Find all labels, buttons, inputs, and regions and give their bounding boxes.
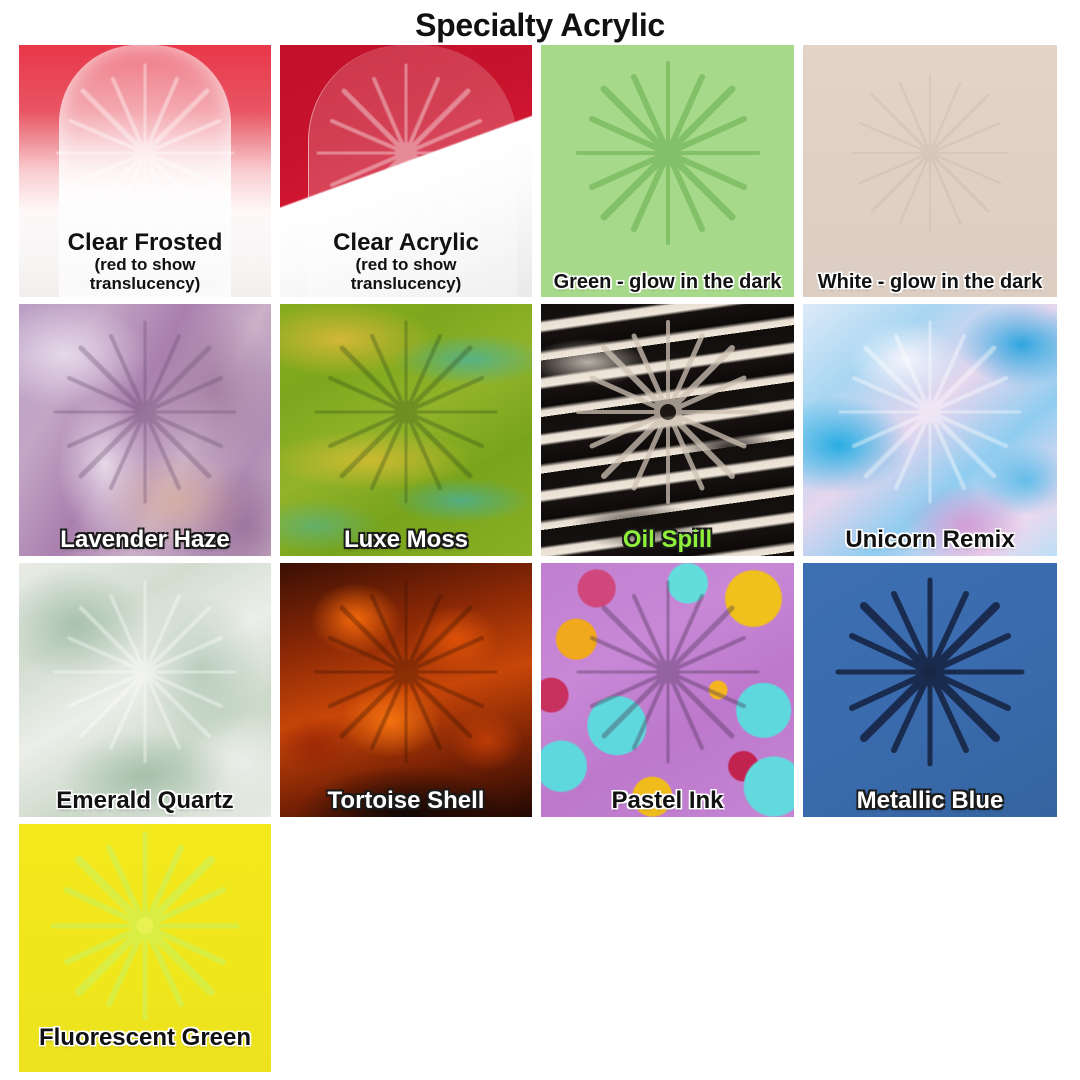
swatch-name: Green - glow in the dark (541, 272, 794, 293)
swatch-unicorn-remix[interactable]: Unicorn Remix (803, 304, 1057, 556)
swatch-lavender-haze[interactable]: Lavender Haze (19, 304, 271, 556)
swatch-label: White - glow in the dark (803, 272, 1057, 297)
swatch-label: Clear Frosted (red to show translucency) (19, 230, 271, 298)
swatch-subtitle-line1: (red to show (280, 255, 532, 274)
starburst-engraving-icon (306, 572, 506, 772)
swatch-label: Clear Acrylic (red to show translucency) (280, 230, 532, 298)
swatch-name: Metallic Blue (803, 788, 1057, 813)
swatch-fluorescent-green[interactable]: Fluorescent Green (19, 824, 271, 1072)
swatch-oil-spill[interactable]: Oil Spill (541, 304, 794, 556)
starburst-engraving-icon (568, 572, 768, 772)
swatch-label: Emerald Quartz (19, 788, 271, 817)
swatch-name: Lavender Haze (19, 527, 271, 552)
page-title: Specialty Acrylic (0, 0, 1080, 45)
swatch-label: Tortoise Shell (280, 788, 532, 817)
swatch-name: Unicorn Remix (803, 527, 1057, 552)
swatch-label: Metallic Blue (803, 788, 1057, 817)
swatch-label: Oil Spill (541, 527, 794, 556)
swatch-subtitle-line2: translucency) (280, 274, 532, 293)
swatch-label: Pastel Ink (541, 788, 794, 817)
swatch-name: Luxe Moss (280, 527, 532, 552)
swatch-subtitle-line2: translucency) (19, 274, 271, 293)
starburst-engraving-icon (45, 572, 245, 772)
swatch-label: Lavender Haze (19, 527, 271, 556)
starburst-engraving-icon (45, 312, 245, 512)
swatch-label: Fluorescent Green (19, 1025, 271, 1072)
swatch-luxe-moss[interactable]: Luxe Moss (280, 304, 532, 556)
swatch-clear-acrylic[interactable]: Clear Acrylic (red to show translucency) (280, 45, 532, 297)
swatch-green-glow-in-the-dark[interactable]: Green - glow in the dark (541, 45, 794, 297)
swatch-name: Clear Acrylic (280, 230, 532, 255)
swatch-name: Oil Spill (541, 527, 794, 552)
starburst-engraving-icon (568, 53, 768, 253)
starburst-engraving-icon (830, 312, 1030, 512)
swatch-name: Pastel Ink (541, 788, 794, 813)
swatch-metallic-blue[interactable]: Metallic Blue (803, 563, 1057, 817)
starburst-engraving-icon (306, 53, 506, 253)
swatch-label: Luxe Moss (280, 527, 532, 556)
swatch-emerald-quartz[interactable]: Emerald Quartz (19, 563, 271, 817)
swatch-name: White - glow in the dark (803, 272, 1057, 293)
swatch-name: Emerald Quartz (19, 788, 271, 813)
starburst-engraving-icon (830, 53, 1030, 253)
starburst-engraving-icon (568, 312, 768, 512)
swatch-name: Fluorescent Green (19, 1025, 271, 1050)
swatch-label: Unicorn Remix (803, 527, 1057, 556)
swatch-subtitle-line1: (red to show (19, 255, 271, 274)
swatch-clear-frosted[interactable]: Clear Frosted (red to show translucency) (19, 45, 271, 297)
swatch-tortoise-shell[interactable]: Tortoise Shell (280, 563, 532, 817)
swatch-name: Tortoise Shell (280, 788, 532, 813)
starburst-engraving-icon (306, 312, 506, 512)
starburst-engraving-icon (45, 53, 245, 253)
starburst-engraving-icon (830, 572, 1030, 772)
swatch-white-glow-in-the-dark[interactable]: White - glow in the dark (803, 45, 1057, 297)
swatch-pastel-ink[interactable]: Pastel Ink (541, 563, 794, 817)
starburst-engraving-icon (45, 826, 245, 1026)
swatch-name: Clear Frosted (19, 230, 271, 255)
swatch-grid: Clear Frosted (red to show translucency) (0, 45, 1080, 1080)
swatch-label: Green - glow in the dark (541, 272, 794, 297)
